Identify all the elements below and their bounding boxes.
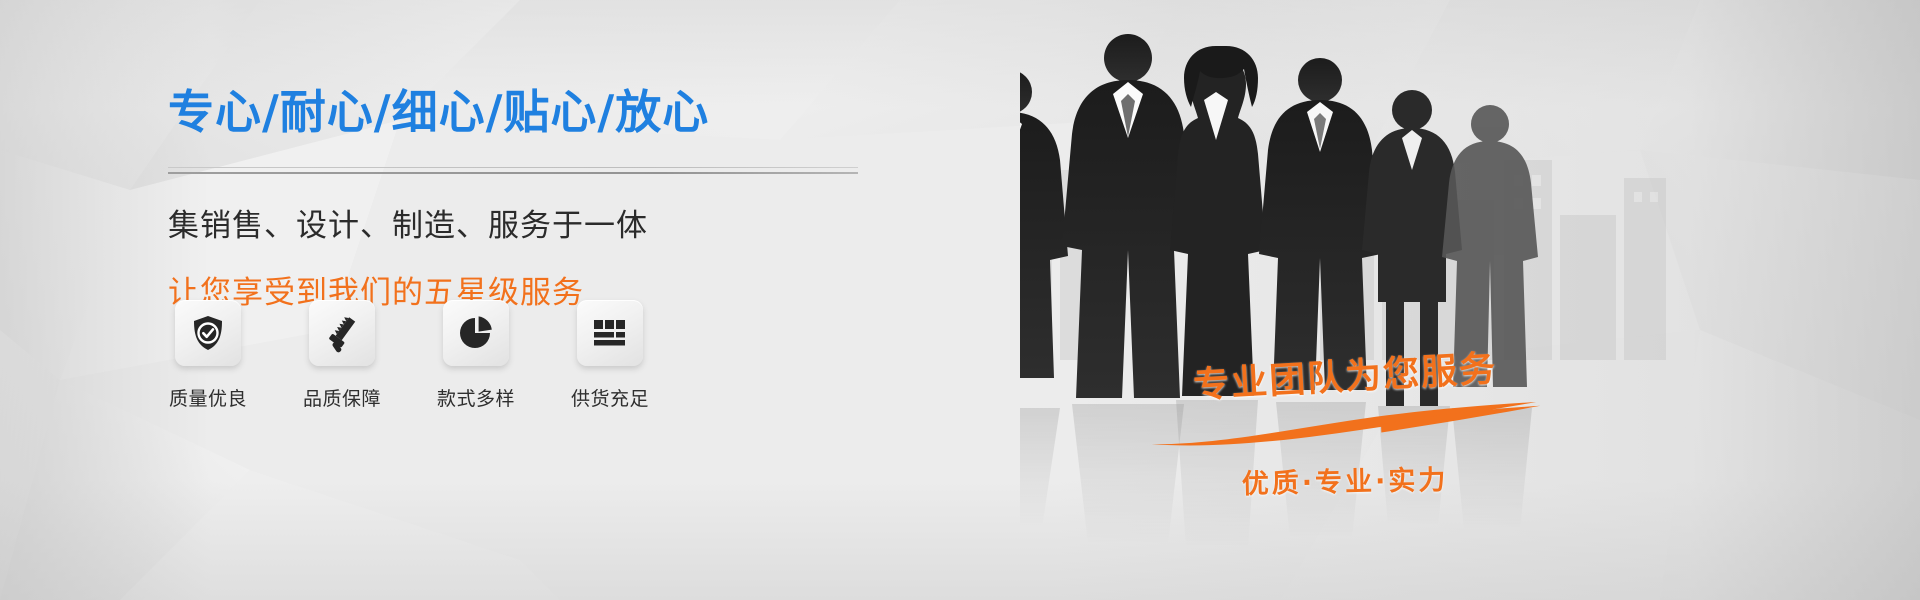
inventory-icon [590,313,630,353]
team-slogan-sub: 优质·专业·实力 [1130,456,1561,504]
divider [168,167,858,174]
feature-item-quality[interactable]: 质量优良 [172,300,244,411]
team-artwork [1020,0,1920,600]
subheading-primary: 集销售、设计、制造、服务于一体 [168,200,928,245]
feature-icon-tile [309,300,375,366]
feature-item-supply[interactable]: 供货充足 [574,300,646,411]
feature-list: 质量优良 品质保障 [172,300,646,411]
hero-banner: 专心/耐心/细心/贴心/放心 集销售、设计、制造、服务于一体 让您享受到我们的五… [0,0,1920,600]
feature-icon-tile [175,300,241,366]
shield-check-icon [188,313,228,353]
hero-copy: 专心/耐心/细心/贴心/放心 集销售、设计、制造、服务于一体 让您享受到我们的五… [168,86,928,312]
feature-label: 质量优良 [169,384,247,411]
feature-label: 供货充足 [571,384,649,411]
saw-icon [322,313,362,353]
feature-label: 品质保障 [303,384,381,411]
feature-icon-tile [443,300,509,366]
divider-line-bottom [168,172,858,174]
page-title: 专心/耐心/细心/贴心/放心 [168,86,928,139]
pie-chart-icon [456,313,496,353]
feature-label: 款式多样 [437,384,515,411]
team-slogan-block: 专业团队为您服务 优质·专业·实力 [1130,348,1560,499]
feature-item-variety[interactable]: 款式多样 [440,300,512,411]
feature-icon-tile [577,300,643,366]
feature-item-assurance[interactable]: 品质保障 [306,300,378,411]
business-team-silhouette [1020,0,1920,600]
